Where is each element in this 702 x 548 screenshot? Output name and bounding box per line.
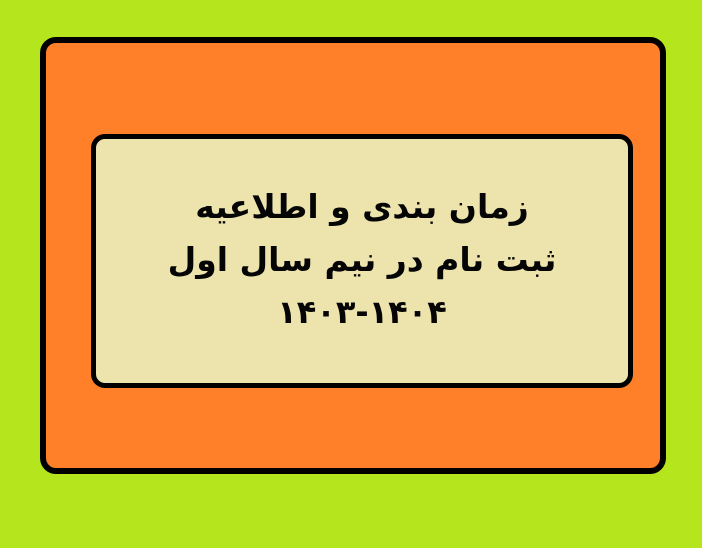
announcement-card: زمان بندی و اطلاعیه ثبت نام در نیم سال ا… bbox=[91, 134, 633, 388]
slide-canvas: زمان بندی و اطلاعیه ثبت نام در نیم سال ا… bbox=[0, 0, 702, 548]
outer-orange-panel: زمان بندی و اطلاعیه ثبت نام در نیم سال ا… bbox=[40, 37, 666, 474]
announcement-title-line-2: ثبت نام در نیم سال اول bbox=[106, 243, 618, 276]
announcement-academic-year: ۱۴۰۳-۱۴۰۴ bbox=[106, 296, 618, 328]
announcement-title-line-1: زمان بندی و اطلاعیه bbox=[106, 190, 618, 223]
